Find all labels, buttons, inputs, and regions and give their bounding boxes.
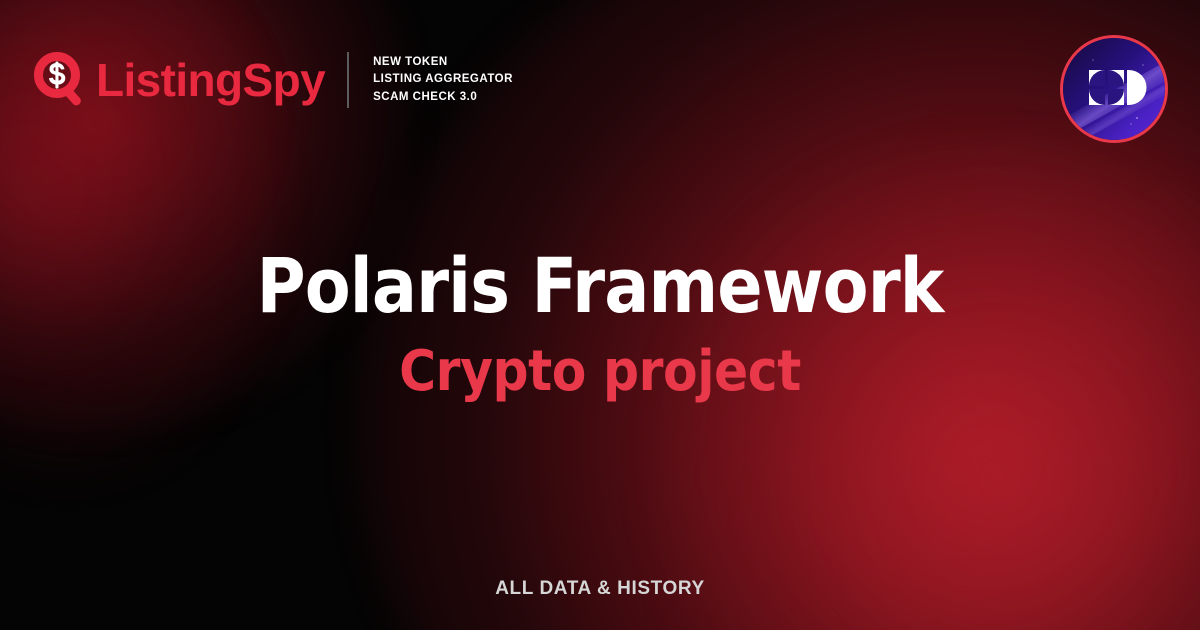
footer-label: ALL DATA & HISTORY [495,578,705,600]
tagline-line-1: NEW TOKEN [373,54,513,71]
brand-header: ListingSpy NEW TOKEN LISTING AGGREGATOR … [34,52,513,108]
brand-tagline: NEW TOKEN LISTING AGGREGATOR SCAM CHECK … [373,54,513,106]
project-heading-block: Polaris Framework Crypto project [0,246,1200,402]
tagline-line-3: SCAM CHECK 3.0 [373,89,513,106]
page-subtitle: Crypto project [60,341,1140,403]
tagline-line-2: LISTING AGGREGATOR [373,71,513,88]
polaris-framework-logo-icon [1063,38,1165,140]
brand-wordmark: ListingSpy [96,57,325,103]
page-title: Polaris Framework [72,246,1128,327]
header-divider [347,52,349,108]
magnifier-dollar-icon [34,52,90,108]
footer: ALL DATA & HISTORY [0,578,1200,600]
brand-lockup[interactable]: ListingSpy [34,52,325,108]
og-card: ListingSpy NEW TOKEN LISTING AGGREGATOR … [0,0,1200,630]
project-avatar[interactable] [1060,35,1168,143]
